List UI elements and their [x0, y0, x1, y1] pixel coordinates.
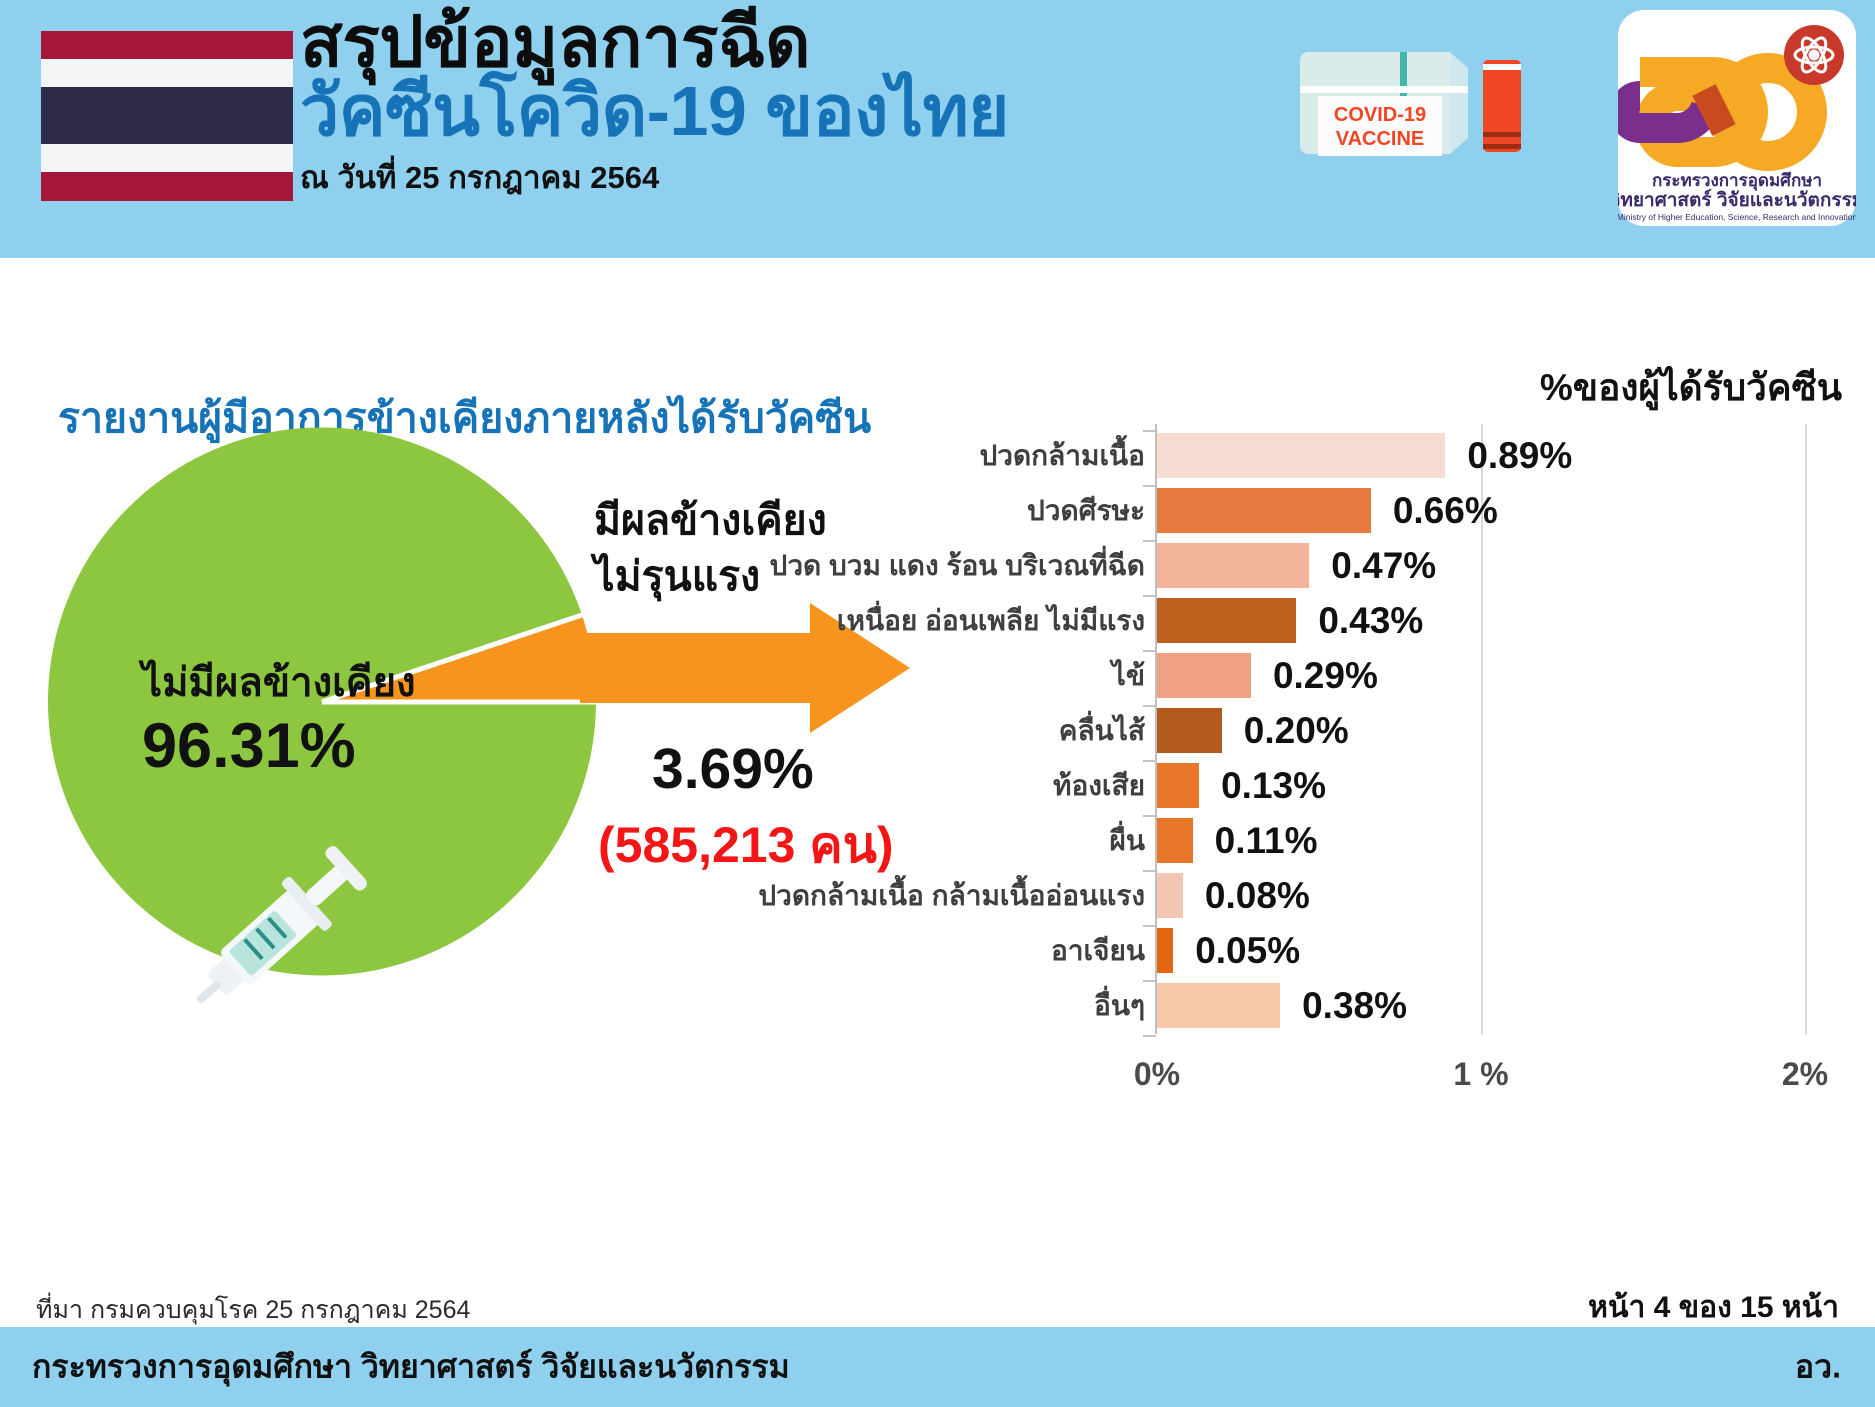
- bar-category-label: ท้องเสีย: [1053, 764, 1145, 808]
- y-axis-tick: [1143, 430, 1156, 432]
- page-title-date: ณ วันที่ 25 กรกฎาคม 2564: [300, 152, 1080, 202]
- mhesi-logo: กระทรวงการอุดมศึกษา วิทยาศาสตร์ วิจัยและ…: [1618, 10, 1856, 226]
- bar: [1157, 873, 1183, 918]
- chart-row: อาเจียน0.05%: [900, 923, 1860, 978]
- chart-row: ปวดกล้ามเนื้อ กล้ามเนื้ออ่อนแรง0.08%: [900, 868, 1860, 923]
- bar-value-label: 0.11%: [1215, 820, 1318, 862]
- page-number: หน้า 4 ของ 15 หน้า: [1588, 1284, 1839, 1331]
- svg-text:VACCINE: VACCINE: [1336, 128, 1425, 150]
- y-axis-tick: [1143, 760, 1156, 762]
- svg-text:COVID-19: COVID-19: [1334, 104, 1426, 126]
- bar: [1157, 488, 1371, 533]
- y-axis-tick: [1143, 925, 1156, 927]
- bar: [1157, 653, 1251, 698]
- chart-row: เหนื่อย อ่อนเพลีย ไม่มีแรง0.43%: [900, 593, 1860, 648]
- footer-abbreviation: อว.: [1795, 1342, 1841, 1393]
- x-axis-tick-label: 2%: [1782, 1056, 1828, 1093]
- bar-category-label: ปวดศีรษะ: [1027, 489, 1145, 533]
- footer-bar: กระทรวงการอุดมศึกษา วิทยาศาสตร์ วิจัยและ…: [0, 1327, 1875, 1407]
- syringe-icon: [172, 832, 382, 1032]
- thailand-flag-icon: [41, 31, 293, 201]
- bar-category-label: ผื่น: [1109, 819, 1145, 863]
- y-axis-tick: [1143, 540, 1156, 542]
- page-title-line1: สรุปข้อมูลการฉีด: [300, 6, 1080, 79]
- side-effect-percent: 3.69%: [652, 736, 814, 802]
- bar-category-label: ปวด บวม แดง ร้อน บริเวณที่ฉีด: [770, 544, 1145, 588]
- chart-row: ปวด บวม แดง ร้อน บริเวณที่ฉีด0.47%: [900, 538, 1860, 593]
- bar: [1157, 543, 1309, 588]
- chart-row: ปวดกล้ามเนื้อ0.89%: [900, 428, 1860, 483]
- chart-row: อื่นๆ0.38%: [900, 978, 1860, 1033]
- bar-value-label: 0.89%: [1467, 435, 1572, 477]
- y-axis-tick: [1143, 485, 1156, 487]
- infographic-page: สรุปข้อมูลการฉีด วัคซีนโควิด-19 ของไทย ณ…: [0, 0, 1875, 1407]
- content-area: รายงานผู้มีอาการข้างเคียงภายหลังได้รับวั…: [0, 258, 1875, 1327]
- bar: [1157, 763, 1199, 808]
- bar: [1157, 598, 1296, 643]
- y-axis-tick: [1143, 705, 1156, 707]
- bar-category-label: เหนื่อย อ่อนเพลีย ไม่มีแรง: [837, 599, 1145, 643]
- bar: [1157, 433, 1445, 478]
- y-axis-tick: [1143, 870, 1156, 872]
- bar-category-label: ปวดกล้ามเนื้อ กล้ามเนื้ออ่อนแรง: [758, 874, 1145, 918]
- bar-value-label: 0.38%: [1302, 985, 1407, 1027]
- source-note: ที่มา กรมควบคุมโรค 25 กรกฎาคม 2564: [36, 1290, 470, 1330]
- pie-label-no-side-effect: ไม่มีผลข้างเคียง: [142, 650, 416, 714]
- chart-plot-area: ปวดกล้ามเนื้อ0.89%ปวดศีรษะ0.66%ปวด บวม แ…: [900, 424, 1860, 1214]
- y-axis-tick: [1143, 1035, 1156, 1037]
- x-axis: 0%1 %2%: [900, 1044, 1860, 1104]
- chart-row: ปวดศีรษะ0.66%: [900, 483, 1860, 538]
- bar-category-label: คลื่นไส้: [1059, 709, 1145, 753]
- bar: [1157, 983, 1280, 1028]
- chart-title: %ของผู้ได้รับวัคซีน: [1540, 358, 1842, 417]
- bar-value-label: 0.08%: [1205, 875, 1310, 917]
- bar-category-label: ไข้: [1112, 654, 1145, 698]
- y-axis-tick: [1143, 815, 1156, 817]
- chart-row: ไข้0.29%: [900, 648, 1860, 703]
- page-title-line2: วัคซีนโควิด-19 ของไทย: [300, 75, 1080, 148]
- bar-category-label: อื่นๆ: [1094, 984, 1145, 1028]
- side-effect-pie-chart: ไม่มีผลข้างเคียง 96.31%: [42, 422, 602, 982]
- bar-value-label: 0.05%: [1195, 930, 1300, 972]
- x-axis-tick-label: 1 %: [1453, 1056, 1508, 1093]
- bar: [1157, 708, 1222, 753]
- y-axis-tick: [1143, 980, 1156, 982]
- bar-category-label: อาเจียน: [1051, 929, 1145, 973]
- logo-thai-line1: กระทรวงการอุดมศึกษา: [1652, 171, 1822, 191]
- page-header: สรุปข้อมูลการฉีด วัคซีนโควิด-19 ของไทย ณ…: [0, 0, 1875, 258]
- bar: [1157, 928, 1173, 973]
- arrow-label-line2: ไม่รุนแรง: [594, 544, 760, 609]
- bar-value-label: 0.20%: [1244, 710, 1349, 752]
- covid-vaccine-vial-icon: COVID-19 VACCINE: [1300, 38, 1530, 168]
- bar-value-label: 0.47%: [1331, 545, 1436, 587]
- bar-value-label: 0.29%: [1273, 655, 1378, 697]
- chart-row: ท้องเสีย0.13%: [900, 758, 1860, 813]
- bar-category-label: ปวดกล้ามเนื้อ: [980, 434, 1146, 478]
- footer-ministry-name: กระทรวงการอุดมศึกษา วิทยาศาสตร์ วิจัยและ…: [32, 1342, 790, 1393]
- y-axis-tick: [1143, 595, 1156, 597]
- pie-value-no-side-effect: 96.31%: [142, 710, 356, 782]
- chart-row: ผื่น0.11%: [900, 813, 1860, 868]
- chart-row: คลื่นไส้0.20%: [900, 703, 1860, 758]
- header-title-block: สรุปข้อมูลการฉีด วัคซีนโควิด-19 ของไทย ณ…: [300, 6, 1080, 202]
- x-axis-tick-label: 0%: [1134, 1056, 1180, 1093]
- bar-value-label: 0.66%: [1393, 490, 1498, 532]
- symptom-bar-chart: %ของผู้ได้รับวัคซีน ปวดกล้ามเนื้อ0.89%ปว…: [900, 358, 1860, 1278]
- logo-english-line: Ministry of Higher Education, Science, R…: [1618, 212, 1856, 222]
- bar: [1157, 818, 1193, 863]
- y-axis-tick: [1143, 650, 1156, 652]
- bar-value-label: 0.43%: [1318, 600, 1423, 642]
- logo-thai-line2: วิทยาศาสตร์ วิจัยและนวัตกรรม: [1618, 189, 1856, 211]
- bar-value-label: 0.13%: [1221, 765, 1326, 807]
